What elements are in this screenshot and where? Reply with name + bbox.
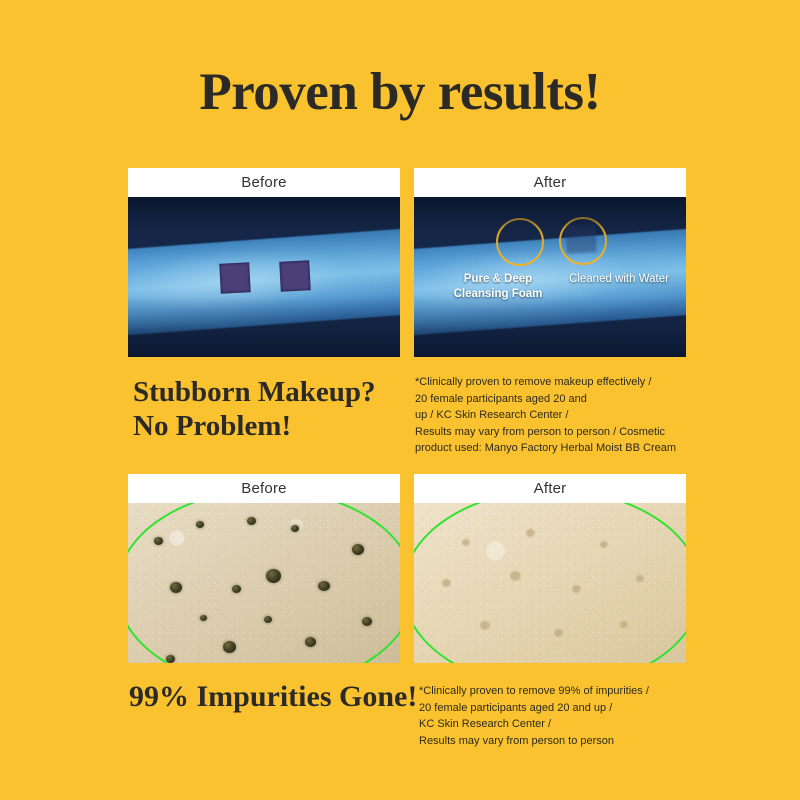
- photo-skin-macro-with-blackheads: [128, 503, 400, 663]
- photo-uv-arm-after-cleansing: Pure & Deep Cleansing Foam Cleaned with …: [414, 197, 686, 357]
- panel-impurities-before: Before: [128, 474, 400, 663]
- panel-impurities-after: After: [414, 474, 686, 663]
- panel-label-before: Before: [128, 474, 400, 503]
- tagline-makeup: Stubborn Makeup? No Problem!: [133, 375, 376, 443]
- page-title: Proven by results!: [0, 66, 800, 119]
- disclaimer-impurities: *Clinically proven to remove 99% of impu…: [419, 683, 677, 749]
- photo-skin-macro-clear: [414, 503, 686, 663]
- panel-label-after: After: [414, 474, 686, 503]
- highlight-ellipse-icon: [128, 503, 400, 663]
- tagline-impurities: 99% Impurities Gone!: [129, 680, 417, 714]
- photo-vignette: [128, 197, 400, 357]
- disclaimer-makeup: *Clinically proven to remove makeup effe…: [415, 374, 677, 457]
- photo-uv-arm-with-makeup-squares: [128, 197, 400, 357]
- annotation-caption-foam: Pure & Deep Cleansing Foam: [438, 272, 558, 302]
- panel-makeup-before: Before: [128, 168, 400, 357]
- panel-label-before: Before: [128, 168, 400, 197]
- panel-makeup-after: After Pure & Deep Cleansing Foam Cleaned…: [414, 168, 686, 357]
- highlight-ellipse-icon: [414, 503, 686, 663]
- annotation-caption-water: Cleaned with Water: [564, 272, 674, 287]
- panel-label-after: After: [414, 168, 686, 197]
